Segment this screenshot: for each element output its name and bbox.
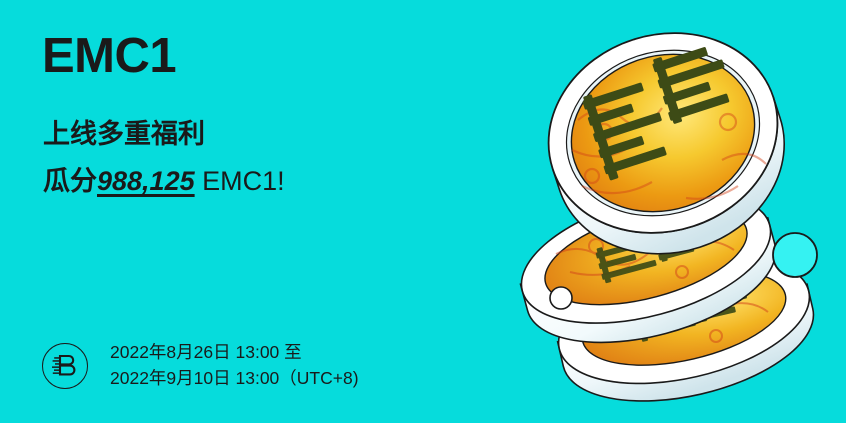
stacked-gold-coins-illustration bbox=[486, 0, 846, 423]
subtitle-line-2: 瓜分988,125 EMC1! bbox=[43, 168, 285, 195]
reward-amount: 988,125 bbox=[97, 166, 195, 196]
headline-block: EMC1 上线多重福利 瓜分988,125 EMC1! bbox=[42, 32, 176, 81]
accent-circle-large bbox=[773, 233, 817, 277]
schedule-line-2: 2022年9月10日 13:00（UTC+8) bbox=[110, 366, 359, 392]
subtitle-line-1: 上线多重福利 bbox=[43, 121, 205, 148]
promo-banner: EMC1 上线多重福利 瓜分988,125 EMC1! 2022年8月26日 bbox=[0, 0, 846, 423]
schedule-text: 2022年8月26日 13:00 至 2022年9月10日 13:00（UTC+… bbox=[110, 340, 359, 391]
subtitle-suffix: EMC1! bbox=[195, 166, 285, 196]
page-title: EMC1 bbox=[42, 32, 176, 81]
schedule-line-1: 2022年8月26日 13:00 至 bbox=[110, 340, 359, 366]
bitget-b-logo-icon bbox=[42, 343, 88, 389]
accent-circle-small bbox=[550, 287, 572, 309]
schedule-row: 2022年8月26日 13:00 至 2022年9月10日 13:00（UTC+… bbox=[42, 340, 359, 391]
subtitle-prefix: 瓜分 bbox=[43, 166, 97, 196]
